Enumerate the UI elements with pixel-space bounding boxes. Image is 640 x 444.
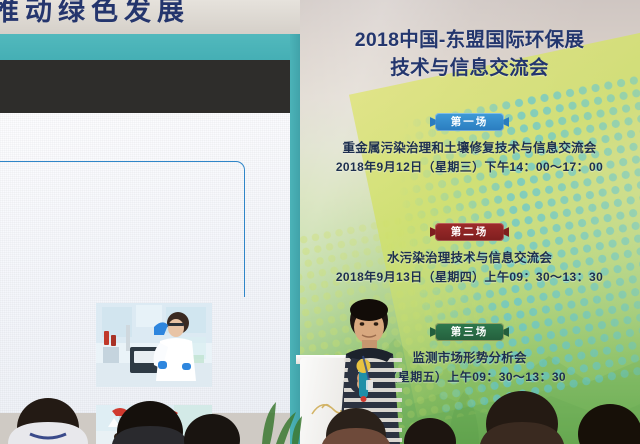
session-2-date: 2018年9月13日（星期四）上午09：30～13：30 (299, 270, 640, 285)
session-block-2: 第二场 水污染治理技术与信息交流会 2018年9月13日（星期四）上午09：30… (299, 222, 640, 285)
event-title-line2: 技术与信息交流会 (299, 54, 640, 82)
audience-heads (0, 374, 640, 444)
screen-bezel (0, 60, 292, 115)
session-2-title: 水污染治理技术与信息交流会 (299, 250, 640, 266)
session-1-date: 2018年9月12日（星期三）下午14：00～17：00 (299, 160, 640, 175)
session-1-badge: 第一场 (435, 113, 505, 131)
session-3-badge: 第三场 (435, 323, 505, 341)
slide-corner-rule (0, 161, 245, 297)
session-block-1: 第一场 重金属污染治理和土壤修复技术与信息交流会 2018年9月12日（星期三）… (299, 112, 640, 175)
session-1-title: 重金属污染治理和土壤修复技术与信息交流会 (299, 140, 640, 156)
session-2-badge: 第二场 (435, 223, 505, 241)
wall-banner-text: 推动绿色发展 (0, 0, 190, 28)
projection-screen (0, 113, 292, 413)
wall-top-banner: 推动绿色发展 (0, 0, 300, 34)
event-title-line1: 2018中国-东盟国际环保展 (355, 29, 585, 51)
event-title: 2018中国-东盟国际环保展 技术与信息交流会 (299, 26, 640, 82)
conference-photo-scene: 2018中国-东盟国际环保展 技术与信息交流会 第一场 重金属污染治理和土壤修复… (0, 0, 640, 444)
teal-frame-top (0, 34, 300, 62)
